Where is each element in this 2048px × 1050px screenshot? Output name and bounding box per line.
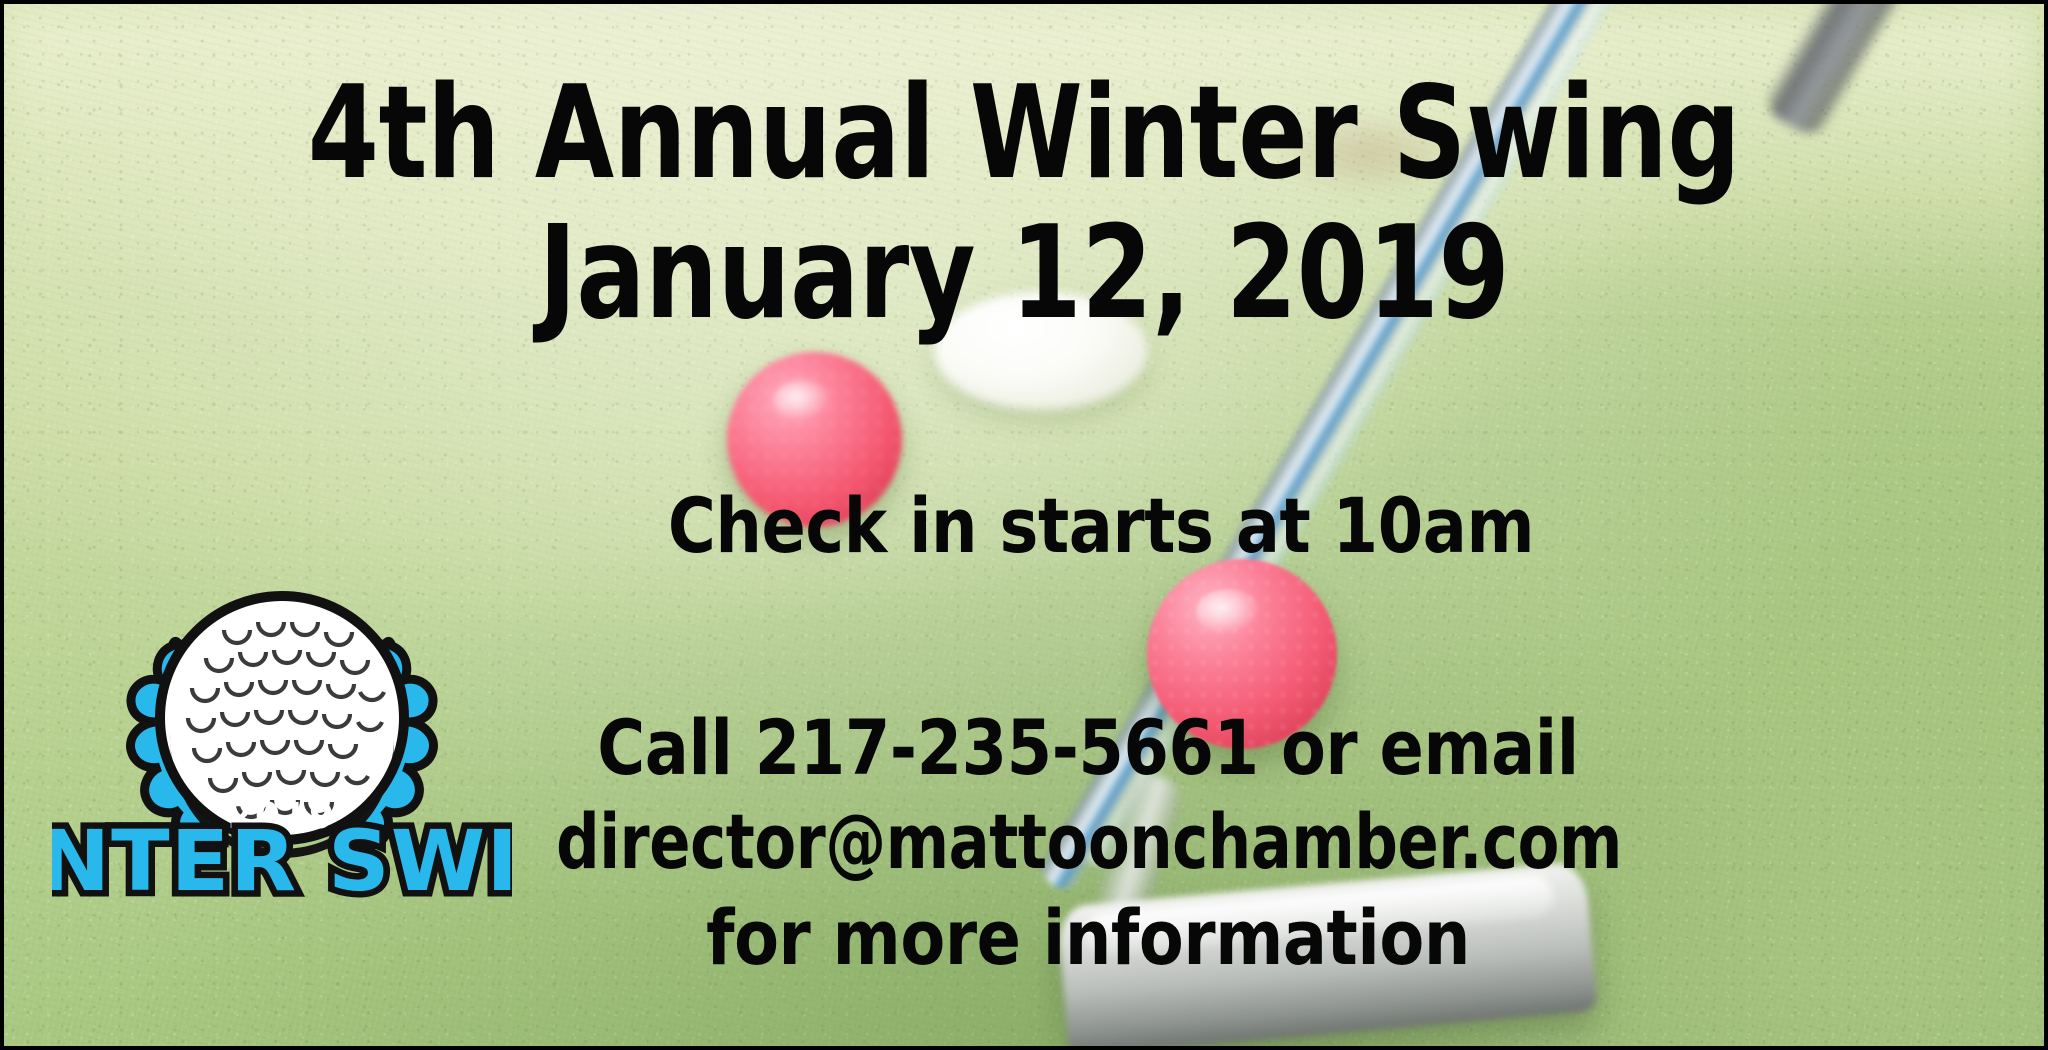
winter-swing-flyer: 4th Annual Winter Swing January 12, 2019…	[0, 0, 2048, 1050]
logo-wordmark: WINTER SWING	[52, 813, 512, 902]
headline-line-2: January 12, 2019	[208, 210, 1840, 338]
winter-swing-logo: 2019 WINTER SWING	[52, 522, 512, 902]
ball-highlight	[773, 380, 833, 422]
more-information-line: for more information	[328, 900, 1848, 976]
headline-line-1: 4th Annual Winter Swing	[208, 70, 1840, 198]
contact-email: director@mattoonchamber.com	[378, 804, 1800, 880]
ball-highlight	[1196, 589, 1261, 635]
contact-phone-line: Call 217-235-5661 or email	[328, 710, 1848, 786]
check-in-time: Check in starts at 10am	[355, 488, 1846, 564]
